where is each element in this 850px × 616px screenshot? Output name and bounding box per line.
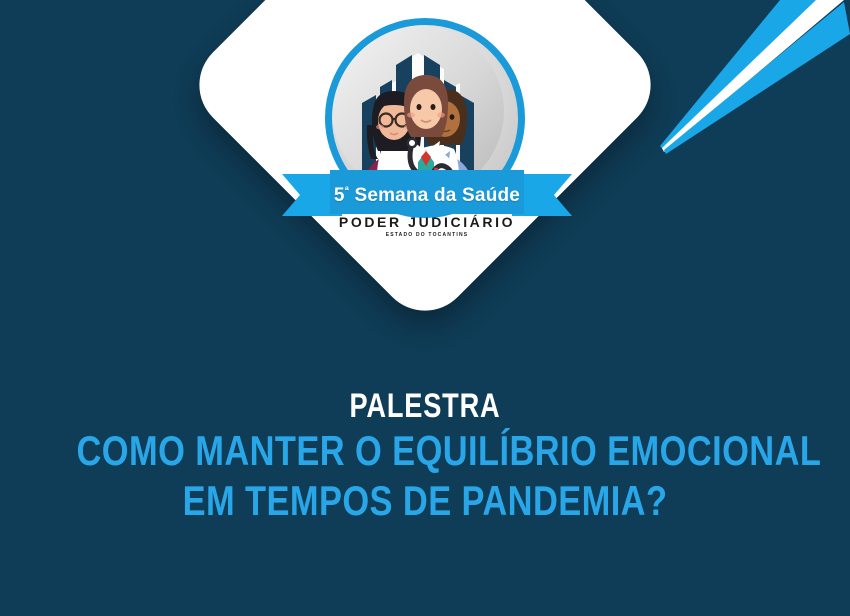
ribbon-edition-number: 5 [334, 185, 345, 206]
ray-white-icon [662, 0, 844, 152]
headline-line-2: EM TEMPOS DE PANDEMIA? [77, 476, 774, 526]
wordmark-sub-text: ESTADO DO TOCANTINS [282, 231, 572, 240]
judiciary-wordmark: PODER JUDICIÁRIO ESTADO DO TOCANTINS [282, 214, 572, 240]
headline-line-1: COMO MANTER O EQUILÍBRIO EMOCIONAL [77, 426, 774, 476]
ribbon-label: 5ª Semana da Saúde [282, 179, 572, 208]
ribbon-title: Semana da Saúde [349, 185, 520, 206]
headline-kicker: PALESTRA [85, 386, 765, 426]
ray-blue-inner-icon [664, 2, 850, 154]
headline-block: PALESTRA COMO MANTER O EQUILÍBRIO EMOCIO… [0, 386, 850, 526]
wordmark-main-text: PODER JUDICIÁRIO [282, 214, 572, 230]
ray-blue-outer-icon [660, 0, 822, 150]
poster-canvas: 5ª Semana da Saúde PODER JUDICIÁRIO ESTA… [0, 0, 850, 616]
